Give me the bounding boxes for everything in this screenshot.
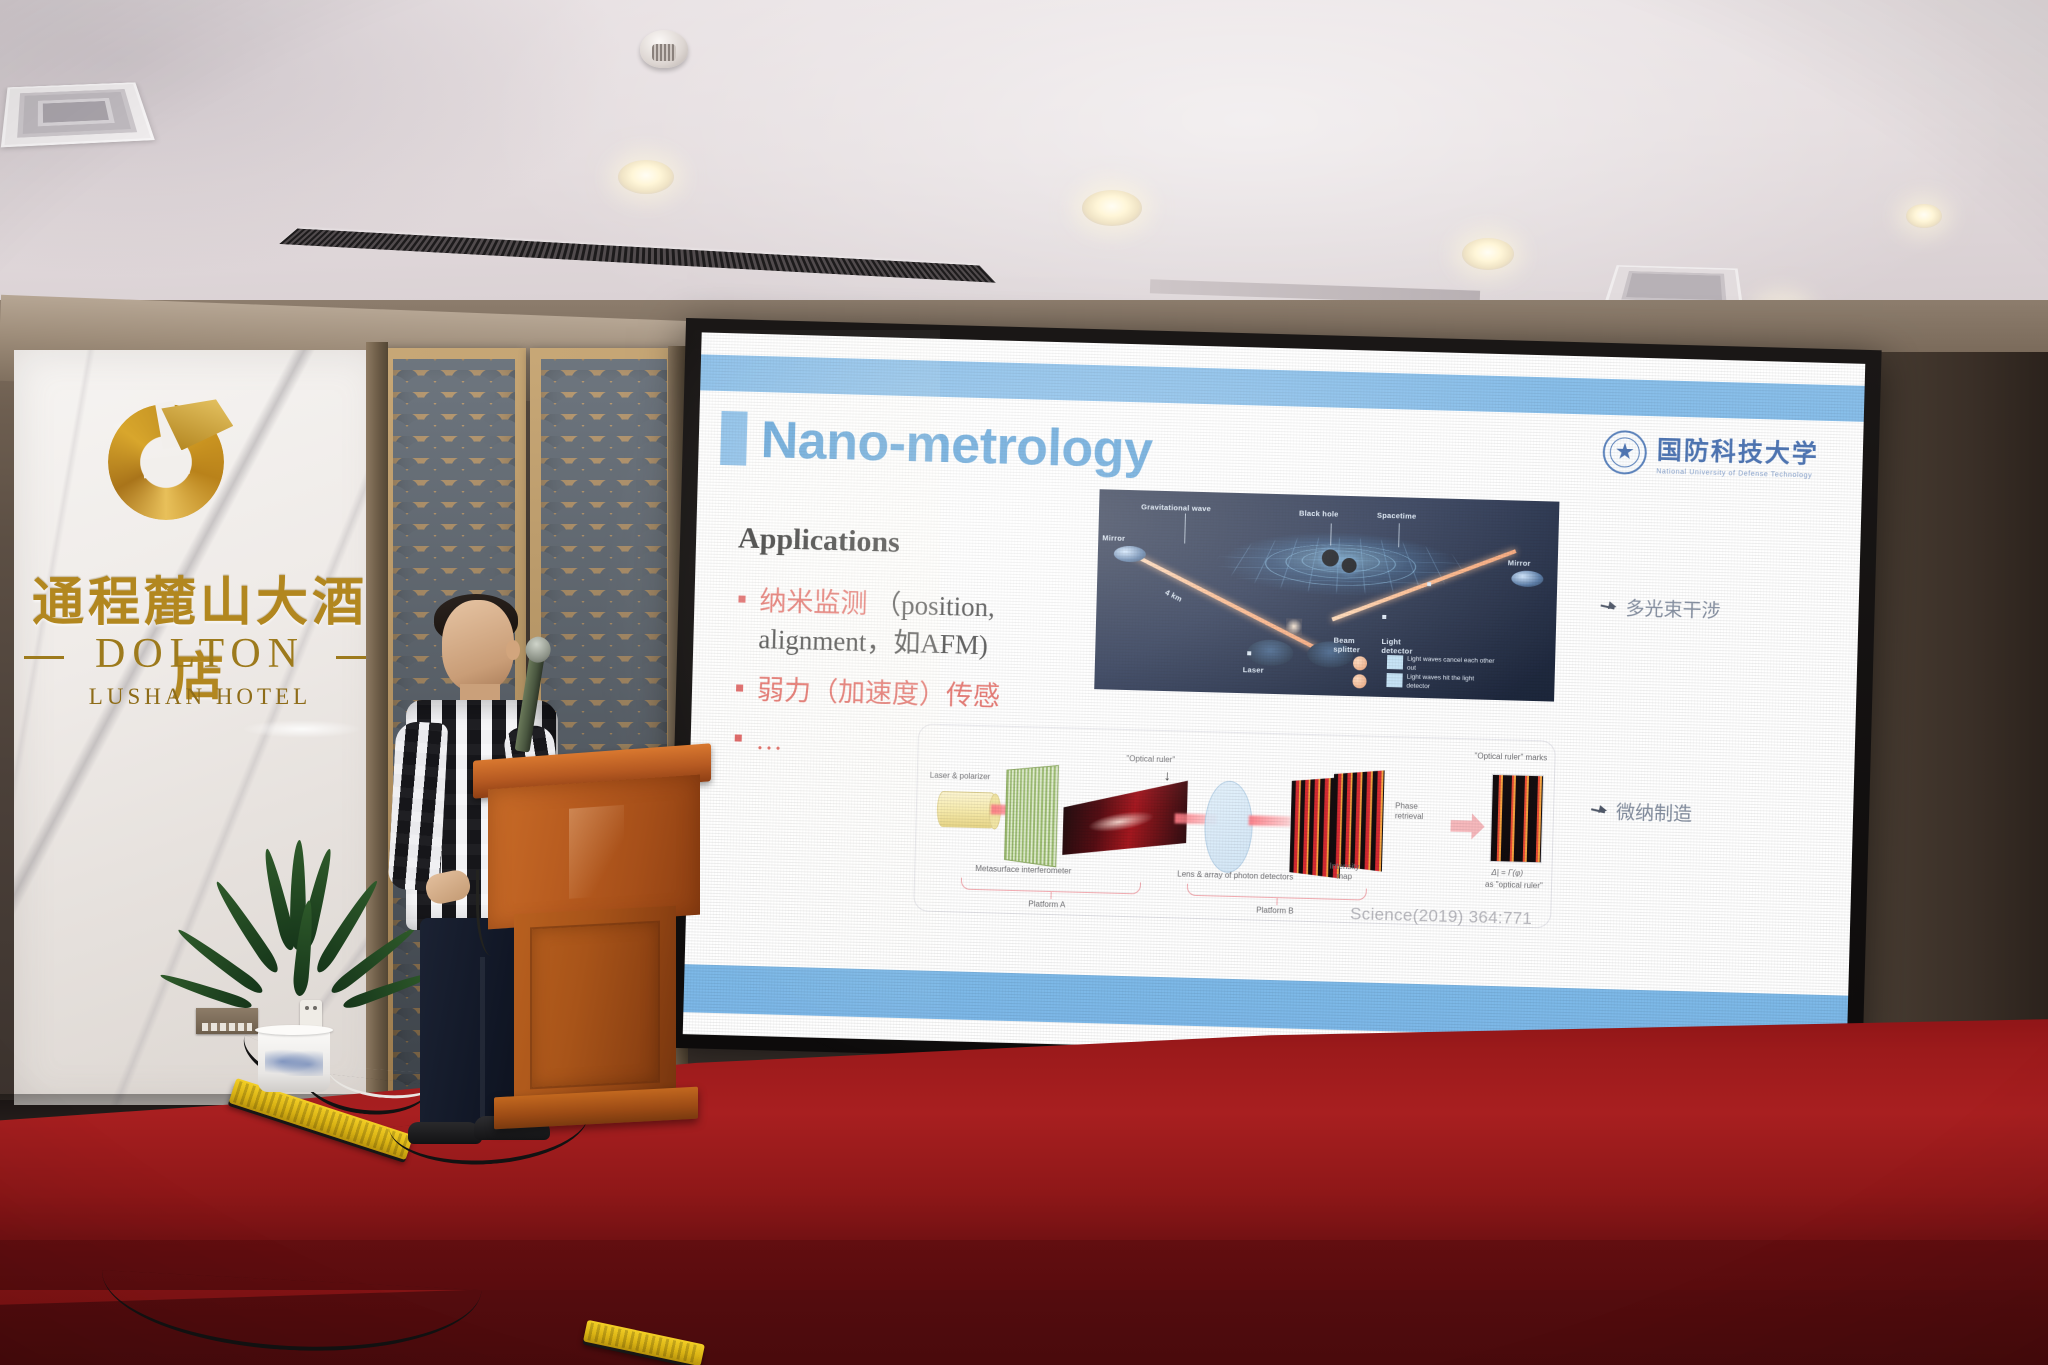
label-intensity-map: Intensity map [1321, 861, 1368, 883]
downlight-icon [1906, 204, 1942, 228]
marker-dot [1247, 651, 1251, 655]
bullet-dot-icon [736, 684, 743, 691]
wooden-podium [480, 752, 710, 1132]
conference-room-photo: 通程麓山大酒店 DOLTON LUSHAN HOTEL Nano-metrolo… [0, 0, 2048, 1365]
hvac-diffuser-icon [1, 82, 155, 147]
annotation-multibeam-interference: 多光束干涉 [1600, 593, 1721, 623]
legend-swatch [1387, 655, 1403, 669]
wave-sphere-icon [1352, 674, 1366, 688]
slide-top-accent-band [700, 354, 1865, 421]
hotel-logo-mark [108, 404, 224, 520]
marker-dot [1427, 582, 1431, 586]
university-logo: 国防科技大学 National University of Defense Te… [1602, 429, 1819, 480]
wall-right-dark-section [1855, 352, 2048, 1092]
presentation-slide[interactable]: Nano-metrology 国防科技大学 National Universit… [683, 332, 1866, 1065]
label-spacetime: Spacetime [1377, 511, 1417, 521]
downlight-icon [618, 160, 674, 194]
bullet-label: 纳米监测 [759, 586, 868, 619]
downlight-icon [1462, 238, 1514, 270]
bullet-tail: （position, [874, 589, 996, 622]
presenter-left-arm [388, 721, 449, 891]
legend-swatch [1386, 673, 1402, 687]
interference-field-plane [1062, 781, 1188, 855]
bullet-text: … [755, 721, 783, 760]
bullet-text: 弱力（加速度）传感 [757, 671, 1001, 716]
brace-platform-a [961, 878, 1141, 895]
mirror-left-icon [1114, 546, 1146, 563]
annotation-micro-nano-fabrication: 微纳制造 [1591, 797, 1693, 827]
slide-title-accent-tab [720, 411, 747, 466]
gravitational-wave-figure: Gravitational wave Black hole Spacetime … [1094, 489, 1559, 701]
label-light-detector: Light detector [1381, 637, 1413, 656]
presenter-ear [506, 640, 520, 660]
presenter-shoe [408, 1122, 482, 1144]
beam-splitter-icon [1286, 618, 1302, 634]
podium-column [514, 906, 676, 1110]
bullet-line2: alignment，如AFM) [758, 624, 988, 660]
bullet-text: 纳米监测 （position, alignment，如AFM) [758, 582, 996, 665]
arrow-icon [1600, 601, 1616, 611]
slide-section-heading: Applications [738, 521, 901, 559]
label-black-hole: Black hole [1299, 509, 1339, 519]
marker-dot [1382, 615, 1386, 619]
bullet-dot-icon [735, 734, 742, 741]
slide-title: Nano-metrology [760, 410, 1153, 481]
phase-retrieval-arrow-icon [1450, 813, 1485, 840]
optical-ruler-result [1490, 774, 1544, 863]
hotel-name-subtitle: LUSHAN HOTEL [10, 684, 390, 710]
intensity-map-plane-back [1332, 770, 1385, 871]
label-formula-sub: as "optical ruler" [1485, 880, 1543, 891]
wave-sphere-icon [1353, 656, 1367, 670]
label-lens-array: Lens & array of photon detectors [1177, 869, 1293, 881]
label-arm-length: 4 km [1164, 588, 1184, 604]
label-metasurface-interferometer: Metasurface interferometer [975, 864, 1071, 876]
leader-line [1184, 514, 1186, 544]
downlight-icon [1082, 190, 1142, 226]
brace-platform-b [1187, 884, 1367, 901]
label-platform-a: Platform A [1028, 899, 1065, 909]
metasurface-grating [1004, 765, 1059, 867]
label-mirror-right: Mirror [1508, 558, 1531, 568]
label-optical-ruler: "Optical ruler" [1126, 754, 1175, 764]
annotation-label: 微纳制造 [1616, 797, 1693, 826]
projection-screen-bezel: Nano-metrology 国防科技大学 National Universit… [666, 318, 1881, 1080]
laser-source-icon [1247, 639, 1294, 666]
label-formula: Δ| = Γ(φ) [1491, 868, 1523, 878]
arrow-icon [1591, 805, 1607, 815]
list-item: 纳米监测 （position, alignment，如AFM) [733, 581, 1065, 667]
presenter-head [442, 600, 514, 692]
star-icon [1616, 442, 1634, 460]
hotel-name-english: DOLTON [10, 630, 390, 678]
label-mirror-left: Mirror [1102, 533, 1125, 543]
label-laser-polarizer: Laser & polarizer [930, 771, 991, 782]
marble-highlight [242, 720, 362, 738]
label-laser: Laser [1243, 665, 1264, 675]
mirror-right-icon [1511, 570, 1543, 587]
label-gravitational-wave: Gravitational wave [1141, 502, 1211, 513]
plant-pot [258, 1030, 330, 1092]
slide-citation: Science(2019) 364:771 [1350, 904, 1533, 929]
bullet-dot-icon [738, 595, 745, 602]
optical-ruler-arrow-icon: ↓ [1164, 767, 1171, 783]
annotation-label: 多光束干涉 [1625, 593, 1721, 623]
laser-source-cylinder [936, 791, 997, 829]
label-beam-splitter: Beam splitter [1333, 636, 1365, 655]
university-seal-icon [1602, 429, 1647, 474]
metasurface-interferometer-figure: Laser & polarizer "Optical ruler" ↓ Inte… [914, 724, 1555, 927]
university-name-chinese: 国防科技大学 [1656, 430, 1819, 470]
legend-text-1: Light waves cancel each other out [1407, 656, 1495, 676]
smoke-detector-icon [640, 30, 688, 68]
laser-beam [1249, 815, 1291, 826]
label-phase-retrieval: Phase retrieval [1395, 801, 1436, 823]
label-optical-ruler-marks: "Optical ruler" marks [1474, 751, 1547, 762]
lens-icon [1203, 780, 1253, 873]
list-item: 弱力（加速度）传感 [732, 670, 1063, 717]
label-platform-b: Platform B [1256, 906, 1294, 916]
legend-text-2: Light waves hit the light detector [1406, 674, 1494, 694]
